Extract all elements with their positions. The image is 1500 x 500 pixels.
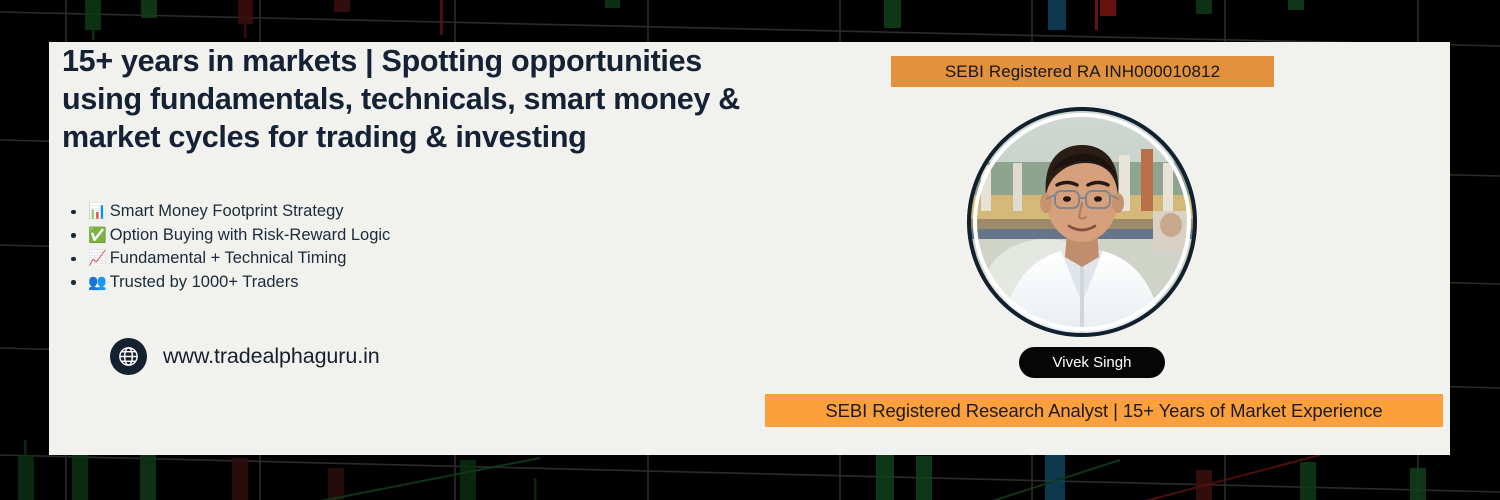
sebi-registration-text: SEBI Registered RA INH000010812	[945, 62, 1220, 82]
feature-label: Trusted by 1000+ Traders	[110, 273, 299, 291]
feature-label: Option Buying with Risk-Reward Logic	[110, 226, 391, 244]
credentials-banner: SEBI Registered Research Analyst | 15+ Y…	[765, 394, 1443, 427]
feature-label: Smart Money Footprint Strategy	[110, 202, 344, 220]
website-url-text: www.tradealphaguru.in	[163, 344, 380, 369]
portrait-outer-ring	[967, 107, 1197, 337]
credentials-banner-text: SEBI Registered Research Analyst | 15+ Y…	[825, 400, 1382, 422]
list-item: 👥Trusted by 1000+ Traders	[62, 271, 822, 295]
sebi-registration-badge: SEBI Registered RA INH000010812	[891, 56, 1274, 87]
people-emoji: 👥	[88, 272, 107, 295]
website-link[interactable]: www.tradealphaguru.in	[110, 338, 822, 375]
analyst-name-text: Vivek Singh	[1053, 354, 1132, 371]
left-content-column: 15+ years in markets | Spotting opportun…	[62, 42, 822, 375]
globe-icon	[110, 338, 147, 375]
chart-increasing-emoji: 📈	[88, 248, 107, 271]
list-item: 📊Smart Money Footprint Strategy	[62, 200, 822, 224]
check-mark-emoji: ✅	[88, 225, 107, 248]
feature-list: 📊Smart Money Footprint Strategy ✅Option …	[62, 200, 822, 294]
avatar	[967, 107, 1197, 337]
promo-banner: 15+ years in markets | Spotting opportun…	[0, 0, 1500, 500]
list-item: 📈Fundamental + Technical Timing	[62, 247, 822, 271]
bar-chart-emoji: 📊	[88, 201, 107, 224]
feature-label: Fundamental + Technical Timing	[110, 249, 347, 267]
analyst-name-pill: Vivek Singh	[1019, 347, 1165, 378]
list-item: ✅Option Buying with Risk-Reward Logic	[62, 224, 822, 248]
page-title: 15+ years in markets | Spotting opportun…	[62, 42, 777, 156]
